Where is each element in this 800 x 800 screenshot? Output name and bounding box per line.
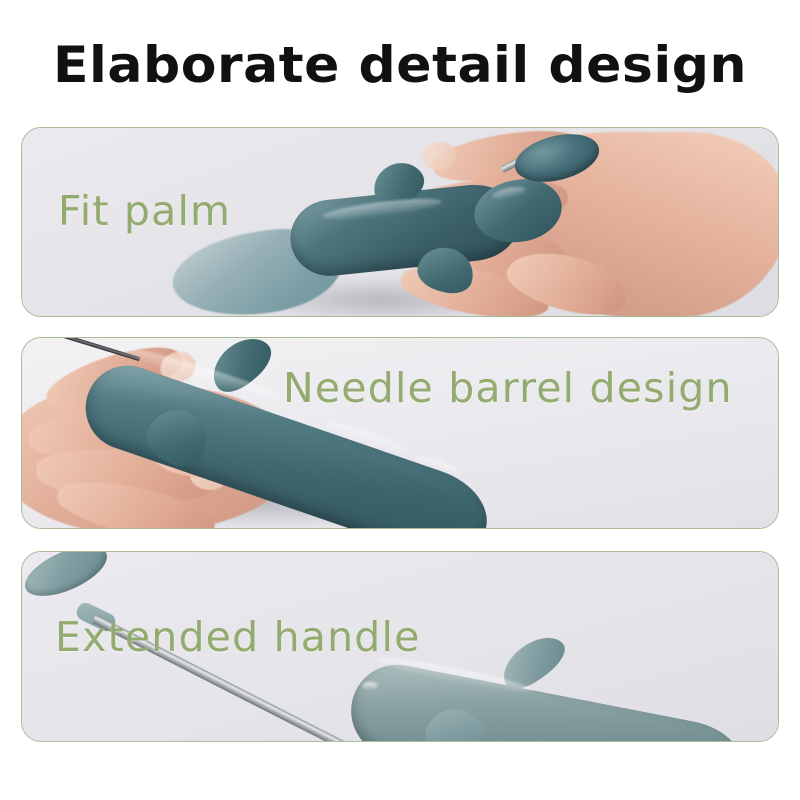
highlight: [362, 682, 378, 690]
page-title: Elaborate detail design: [0, 36, 800, 94]
panel-caption-extended-handle: Extended handle: [55, 613, 421, 661]
panel-caption-fit-palm: Fit palm: [58, 187, 231, 235]
panel-caption-needle-barrel-design: Needle barrel design: [283, 364, 733, 412]
t-handle-disc: [21, 551, 114, 606]
